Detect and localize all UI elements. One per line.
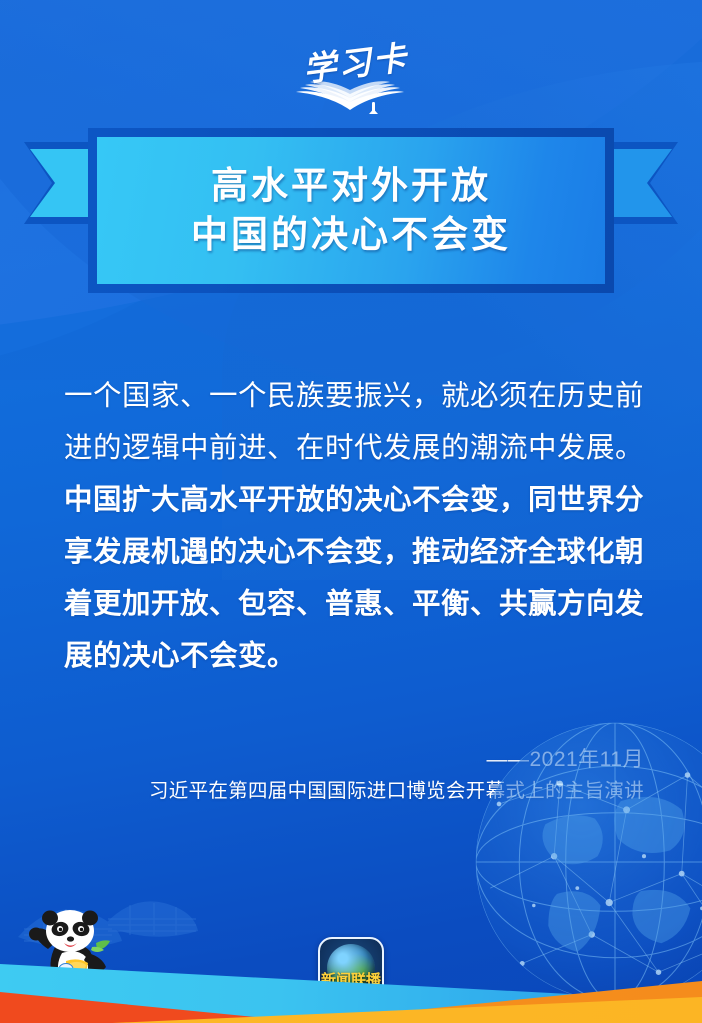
quote-paragraph: 一个国家、一个民族要振兴，就必须在历史前进的逻辑中前进、在时代发展的潮流中发展。… (64, 370, 644, 682)
title-ribbon-frame: 高水平对外开放 中国的决心不会变 (88, 128, 614, 293)
brand-logo: 学习卡 (0, 24, 702, 116)
news-badge-sub-label: XINWEN LIANBO (320, 991, 382, 998)
page-title-line-1: 高水平对外开放 (211, 164, 491, 208)
attribution-source: 习近平在第四届中国国际进口博览会开幕式上的主旨演讲 (64, 775, 644, 807)
title-ribbon-inner: 高水平对外开放 中国的决心不会变 (97, 137, 605, 284)
page-title-line-2: 中国的决心不会变 (191, 213, 511, 257)
quote-body: 一个国家、一个民族要振兴，就必须在历史前进的逻辑中前进、在时代发展的潮流中发展。… (64, 370, 644, 682)
ribbon-tail-right-icon (612, 142, 678, 224)
quote-emphasis-text: 中国扩大高水平开放的决心不会变，同世界分享发展机遇的决心不会变，推动经济全球化朝… (64, 484, 644, 672)
attribution-date: ——2021年11月 (64, 745, 644, 775)
panda-mascot-icon (26, 903, 122, 1007)
news-badge-label: 新闻联播 (320, 973, 382, 988)
learning-card-poster: 学习卡 高 (0, 0, 702, 1023)
news-app-badge[interactable]: 新闻联播 XINWEN LIANBO (318, 937, 384, 1003)
ribbon-tail-left-icon (24, 142, 90, 224)
quote-lead-text: 一个国家、一个民族要振兴，就必须在历史前进的逻辑中前进、在时代发展的潮流中发展。 (64, 380, 644, 464)
attribution: ——2021年11月 习近平在第四届中国国际进口博览会开幕式上的主旨演讲 (64, 745, 644, 807)
title-ribbon: 高水平对外开放 中国的决心不会变 (0, 128, 702, 308)
